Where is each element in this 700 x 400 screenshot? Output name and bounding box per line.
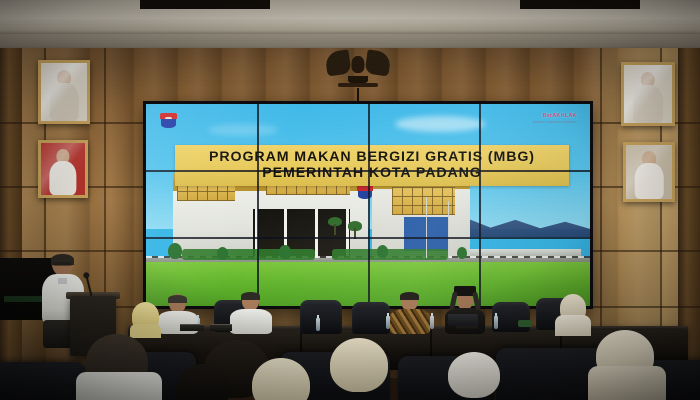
audience-head-4	[448, 352, 500, 398]
padang-city-crest-icon	[160, 113, 177, 128]
speaker-glasses-icon	[53, 262, 72, 266]
water-bottle-2	[316, 318, 320, 331]
official-1-hair	[168, 295, 187, 303]
official-2-hair	[241, 292, 260, 300]
slide-flagpole-1	[426, 197, 427, 258]
slide-pillar-3	[315, 209, 318, 257]
slide-building-crest-icon	[357, 185, 373, 199]
video-wall-bezel-v2	[368, 104, 370, 306]
audience-shoulders-1	[76, 372, 162, 400]
slide-tree-4	[377, 245, 388, 258]
wall-panel-left-edge	[0, 48, 22, 378]
ceiling-recess-right	[520, 0, 640, 9]
wall-seam-v2	[600, 48, 602, 348]
slide-palm-1	[328, 217, 342, 235]
meeting-room-photo: BerAKHLAK BANGGA MELAYANI BANGSA PROGRAM…	[0, 0, 700, 400]
attendee-right-shoulders	[555, 315, 591, 336]
video-wall-bezel-v3	[479, 104, 481, 306]
panel-attendee-hijab-right	[554, 294, 592, 336]
wall-portrait-right-upper	[621, 62, 675, 126]
desk-object-green	[518, 320, 532, 327]
garuda-pancasila-icon	[327, 44, 389, 90]
wall-portrait-left-upper	[38, 60, 90, 124]
panel-chair-2	[300, 300, 342, 334]
water-bottle-5	[494, 316, 498, 329]
video-wall-bezel-h1	[146, 170, 590, 172]
laptop-icon	[448, 314, 478, 326]
panel-official-3	[390, 292, 430, 334]
beraklak-tagline: BANGGA MELAYANI BANGSA	[533, 121, 577, 124]
slide-cloud-1	[395, 116, 485, 132]
nameplate-1	[180, 324, 204, 331]
official-3-hair	[400, 292, 419, 300]
panel-official-2	[230, 292, 272, 334]
water-bottle-4	[430, 316, 434, 329]
panel-attendee-hijab-left	[128, 302, 162, 336]
slide-tree-5	[457, 247, 467, 259]
slide-tree-1	[168, 243, 182, 259]
slide-hedge-1	[182, 249, 315, 259]
beraklak-logo: BerAKHLAK BANGGA MELAYANI BANGSA	[533, 114, 577, 124]
audience-shoulders-hijab-3	[588, 366, 666, 400]
slide-title-band: PROGRAM MAKAN BERGIZI GRATIS (MBG) PEMER…	[175, 145, 569, 186]
official-2-torso	[230, 309, 272, 334]
panel-chair-3	[352, 302, 390, 334]
audience-chair-1	[0, 362, 86, 400]
slide-title-line-1: PROGRAM MAKAN BERGIZI GRATIS (MBG)	[179, 150, 565, 164]
video-wall-bezel-v1	[257, 104, 259, 306]
ceiling-recess-left	[140, 0, 270, 9]
slide-tree-2	[217, 247, 228, 260]
slide-flagpole-2	[448, 201, 449, 258]
official-3-batik-torso	[390, 309, 430, 334]
wall-portrait-right-lower	[623, 142, 675, 202]
attendee-left-shoulders	[130, 324, 161, 338]
water-bottle-3	[386, 316, 390, 329]
video-wall-bezel-h2	[146, 237, 590, 239]
slide-building-windows-3	[392, 187, 454, 215]
slide-hedge-2	[332, 249, 447, 259]
beraklak-wordmark: BerAKHLAK	[533, 114, 577, 120]
speaker-badge	[58, 278, 67, 284]
wall-portrait-left-lower	[38, 140, 88, 198]
video-wall-screen: BerAKHLAK BANGGA MELAYANI BANGSA PROGRAM…	[146, 104, 590, 306]
video-wall-display[interactable]: BerAKHLAK BANGGA MELAYANI BANGSA PROGRAM…	[143, 101, 593, 309]
nameplate-2	[210, 324, 232, 331]
slide-title-line-2: PEMERINTAH KOTA PADANG	[179, 166, 565, 180]
audience-head-hijab-1	[330, 338, 388, 392]
